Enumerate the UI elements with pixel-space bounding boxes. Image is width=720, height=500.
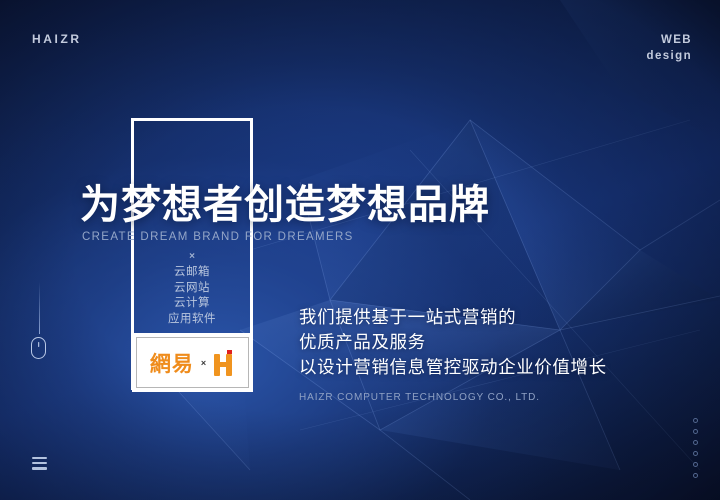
copy-line: 以设计营销信息管控驱动企业价值增长	[299, 355, 607, 380]
corner-label-line1: WEB	[647, 32, 692, 48]
netease-wordmark: 網易	[150, 348, 194, 378]
copy-line: 我们提供基于一站式营销的	[299, 305, 607, 330]
hamburger-bar	[32, 457, 47, 459]
slide-canvas: HAIZR WEB design 为梦想者创造梦想品牌 CREATE DREAM…	[0, 0, 720, 500]
list-item[interactable]: 应用软件	[131, 312, 253, 328]
company-legal-name: HAIZR COMPUTER TECHNOLOGY CO., LTD.	[299, 385, 607, 410]
scroll-rail-line	[39, 282, 40, 334]
hamburger-bar	[32, 467, 47, 469]
list-item[interactable]: 云邮箱	[131, 265, 253, 281]
separator-cross-icon: ×	[131, 251, 253, 262]
hamburger-bar	[32, 462, 47, 464]
page-subtitle: CREATE DREAM BRAND FOR DREAMERS	[82, 231, 354, 243]
list-item[interactable]: 云计算	[131, 296, 253, 312]
pager-dot[interactable]	[693, 462, 698, 467]
page-title: 为梦想者创造梦想品牌	[80, 182, 490, 228]
corner-label: WEB design	[647, 32, 692, 64]
pager-dot[interactable]	[693, 440, 698, 445]
copy-line: 优质产品及服务	[299, 330, 607, 355]
list-item[interactable]: 云网站	[131, 281, 253, 297]
corner-label-line2: design	[647, 48, 692, 64]
hamburger-menu-icon[interactable]	[32, 457, 47, 470]
pager-dots[interactable]	[693, 418, 698, 484]
background-vignette	[0, 0, 720, 500]
mouse-scroll-icon[interactable]	[31, 337, 46, 359]
h-logo-right-bar	[226, 354, 232, 376]
brand-logo-text[interactable]: HAIZR	[32, 32, 82, 46]
partner-logo-box: 網易 ×	[132, 333, 253, 392]
pager-dot[interactable]	[693, 418, 698, 423]
pager-dot[interactable]	[693, 473, 698, 478]
body-copy: 我们提供基于一站式营销的 优质产品及服务 以设计营销信息管控驱动企业价值增长 H…	[299, 305, 607, 410]
logo-cross-icon: ×	[201, 358, 206, 368]
haizr-h-logo-icon	[213, 350, 235, 376]
partner-logo-inner: 網易 ×	[136, 337, 249, 388]
pager-dot[interactable]	[693, 451, 698, 456]
pager-dot[interactable]	[693, 429, 698, 434]
service-list-items: 云邮箱 云网站 云计算 应用软件	[131, 265, 253, 327]
service-list: 云邮箱 云网站 云计算 应用软件	[131, 265, 253, 327]
